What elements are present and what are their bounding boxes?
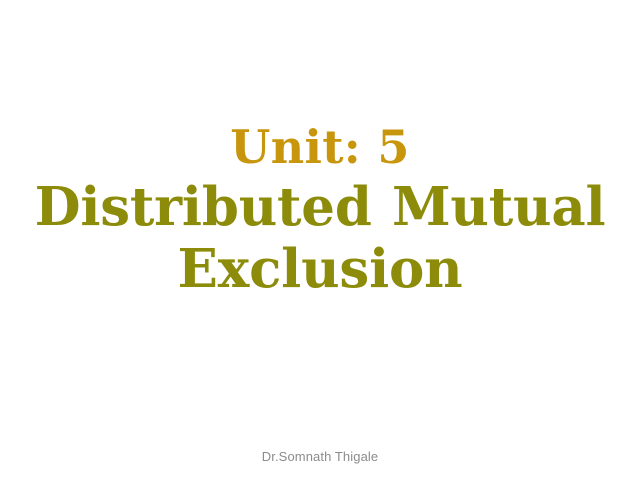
presentation-slide: Unit: 5 Distributed Mutual Exclusion Dr.… bbox=[0, 0, 640, 480]
topic-title-line-2: Exclusion bbox=[18, 238, 622, 300]
unit-heading: Unit: 5 bbox=[18, 118, 622, 176]
presenter-name: Dr.Somnath Thigale bbox=[0, 448, 640, 466]
title-block: Unit: 5 Distributed Mutual Exclusion bbox=[0, 118, 640, 300]
topic-title-line-1: Distributed Mutual bbox=[18, 176, 622, 238]
